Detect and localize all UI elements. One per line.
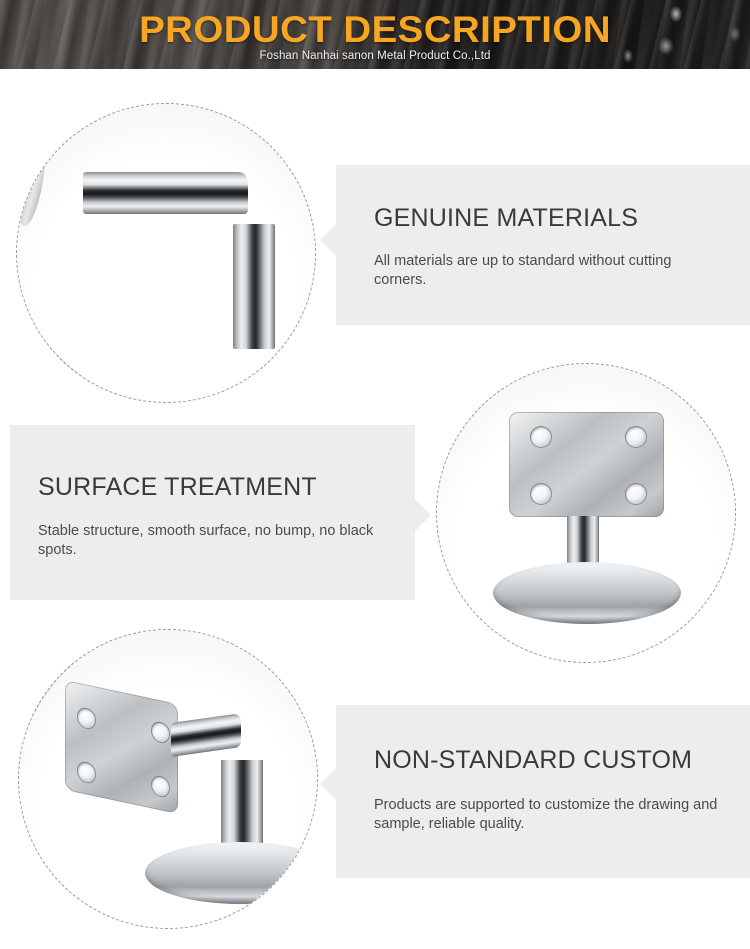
center-bolt — [437, 364, 475, 387]
company-name: Foshan Nanhai sanon Metal Product Co.,Lt… — [0, 50, 750, 62]
panel-pointer-right-icon — [415, 499, 431, 531]
product-photo-3 — [18, 629, 318, 929]
feature-panel-genuine-materials: GENUINE MATERIALS All materials are up t… — [336, 165, 750, 325]
page-banner: PRODUCT DESCRIPTION Foshan Nanhai sanon … — [0, 0, 750, 69]
screw-hole — [530, 483, 552, 505]
screw-hole — [530, 426, 552, 448]
panel-pointer-left-icon — [320, 224, 336, 256]
feature-heading: SURFACE TREATMENT — [38, 473, 317, 502]
feature-body: All materials are up to standard without… — [374, 252, 724, 290]
feature-panel-non-standard-custom: NON-STANDARD CUSTOM Products are support… — [336, 705, 750, 878]
base-disc — [493, 562, 681, 624]
product-photo-2 — [436, 363, 736, 663]
screw-hole — [625, 426, 647, 448]
feature-heading: NON-STANDARD CUSTOM — [374, 746, 692, 775]
product-photo-1 — [16, 103, 316, 403]
horizontal-tube — [83, 172, 248, 214]
feature-heading: GENUINE MATERIALS — [374, 204, 638, 233]
feature-body: Stable structure, smooth surface, no bum… — [38, 522, 393, 560]
feature-panel-surface-treatment: SURFACE TREATMENT Stable structure, smoo… — [10, 425, 415, 600]
screw-hole — [625, 483, 647, 505]
page-title: PRODUCT DESCRIPTION — [0, 9, 750, 51]
product-description-page: PRODUCT DESCRIPTION Foshan Nanhai sanon … — [0, 0, 750, 949]
center-bolt-head — [437, 387, 453, 402]
panel-pointer-left-icon — [320, 768, 336, 800]
feature-body: Products are supported to customize the … — [374, 796, 724, 834]
center-bolt — [19, 630, 45, 650]
vertical-tube — [233, 224, 275, 349]
